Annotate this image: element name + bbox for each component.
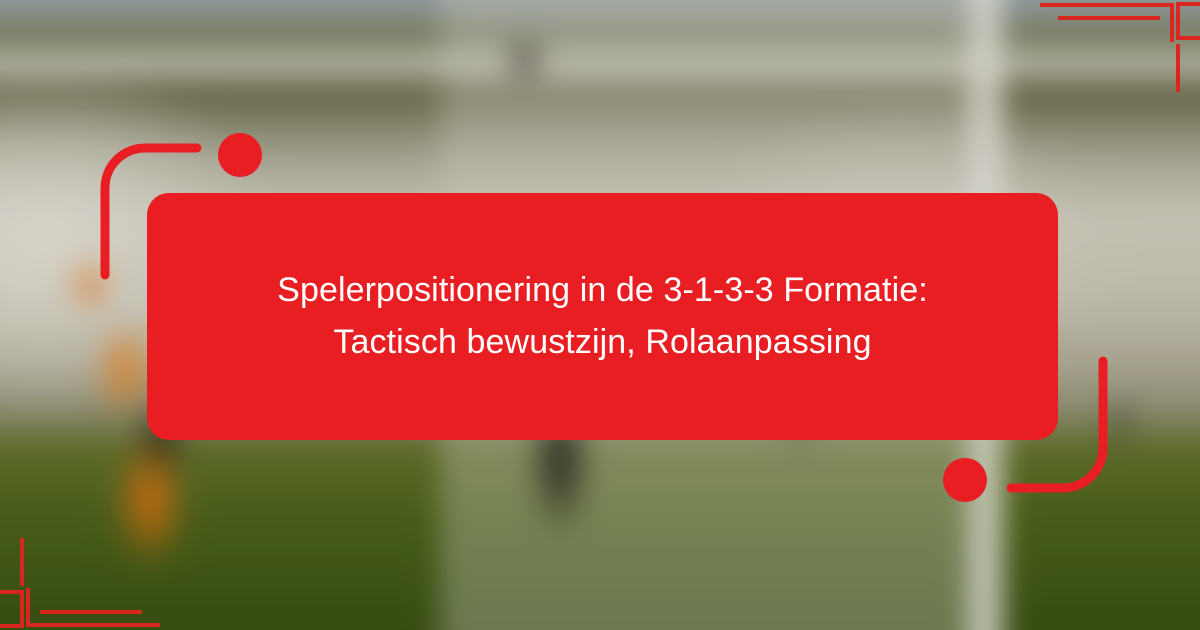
- accent-dot-bottom-right: [943, 458, 987, 502]
- title-card: Spelerpositionering in de 3-1-3-3 Format…: [147, 193, 1058, 440]
- accent-dot-top-left: [218, 133, 262, 177]
- corner-bracket-bottom-left: [0, 538, 160, 630]
- corner-bracket-top-right: [1040, 0, 1200, 92]
- page-title: Spelerpositionering in de 3-1-3-3 Format…: [277, 265, 928, 368]
